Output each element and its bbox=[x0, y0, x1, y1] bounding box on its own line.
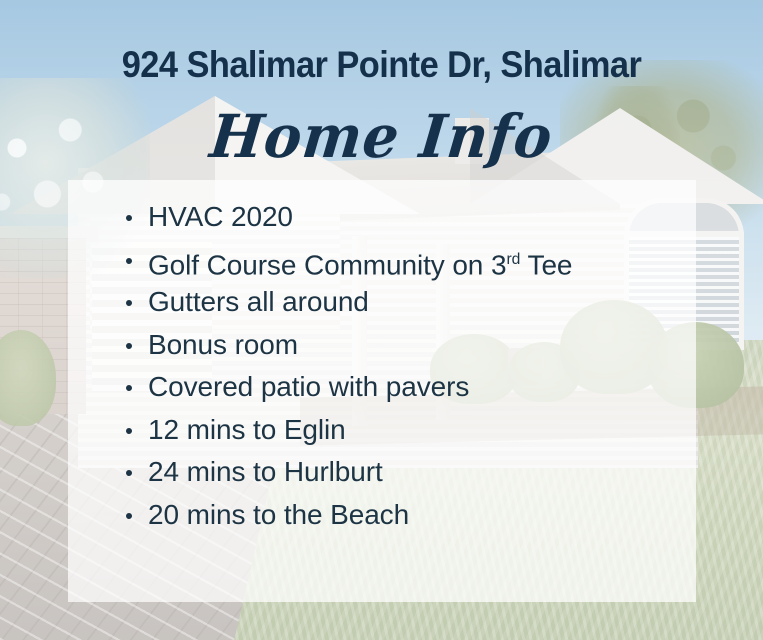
list-item-label: Covered patio with pavers bbox=[148, 371, 469, 402]
list-item: 12 mins to Eglin bbox=[124, 409, 684, 451]
list-item-label: 20 mins to the Beach bbox=[148, 499, 409, 530]
home-info-flyer: 924 Shalimar Pointe Dr, Shalimar Home In… bbox=[0, 0, 763, 640]
list-item: Bonus room bbox=[124, 324, 684, 366]
list-item-label: Golf Course Community on 3 bbox=[148, 249, 506, 280]
list-item-label: Bonus room bbox=[148, 329, 298, 360]
list-item-label: HVAC 2020 bbox=[148, 201, 293, 232]
list-item-label: Gutters all around bbox=[148, 286, 369, 317]
list-item: Covered patio with pavers bbox=[124, 366, 684, 408]
list-item: Gutters all around bbox=[124, 281, 684, 323]
list-item-label-tail: Tee bbox=[520, 249, 572, 280]
list-item-label: 12 mins to Eglin bbox=[148, 414, 346, 445]
list-item: 20 mins to the Beach bbox=[124, 494, 684, 536]
section-heading: Home Info bbox=[0, 102, 763, 172]
list-item-label: 24 mins to Hurlburt bbox=[148, 456, 383, 487]
list-item: HVAC 2020 bbox=[124, 196, 684, 238]
list-item: 24 mins to Hurlburt bbox=[124, 451, 684, 493]
list-item: Golf Course Community on 3rd Tee bbox=[124, 239, 684, 281]
ordinal-suffix: rd bbox=[506, 251, 520, 268]
page-title: 924 Shalimar Pointe Dr, Shalimar bbox=[27, 44, 737, 86]
home-features-list: HVAC 2020Golf Course Community on 3rd Te… bbox=[124, 196, 684, 536]
